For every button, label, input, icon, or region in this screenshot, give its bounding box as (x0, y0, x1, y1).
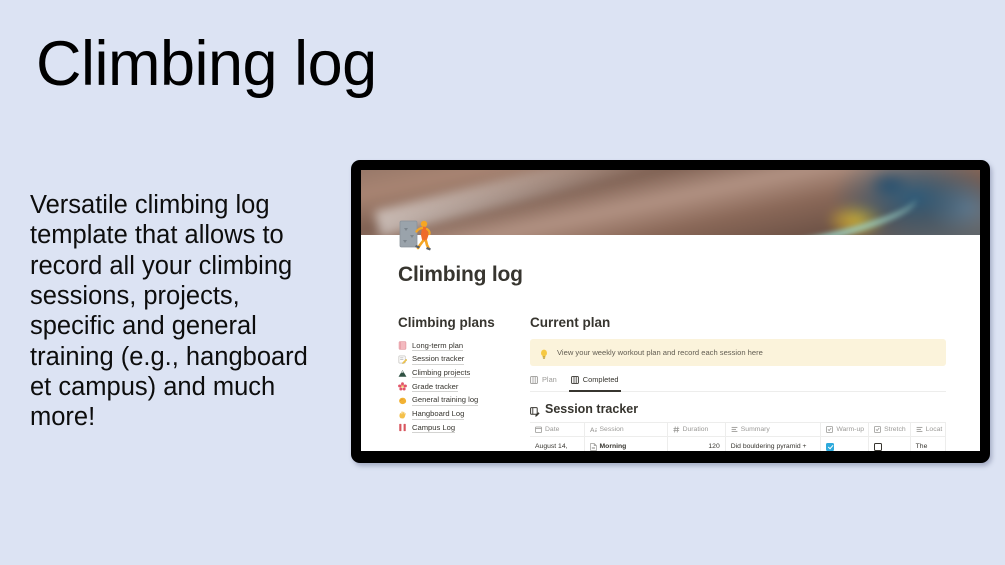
column-header-label: Locat (926, 426, 943, 433)
column-header-date[interactable]: Date (530, 423, 584, 437)
sidebar-item-general-training-log[interactable]: General training log (398, 394, 526, 408)
current-plan-column: Current plan View your weekly workout pl… (526, 315, 946, 451)
callout-block: View your weekly workout plan and record… (530, 339, 946, 366)
text-icon (916, 426, 923, 433)
notion-cover-photo (361, 170, 980, 235)
tab-label: Plan (542, 375, 557, 384)
cell-session-label: Morning Bouldering session (600, 442, 662, 451)
sidebar-item-label: Long-term plan (412, 341, 463, 352)
cell-session[interactable]: Morning Bouldering session (584, 437, 667, 452)
current-plan-heading: Current plan (530, 315, 946, 330)
database-icon (530, 376, 538, 384)
notebook-icon (398, 341, 407, 350)
checkbox-unchecked-icon[interactable] (874, 443, 882, 451)
column-header-stretch[interactable]: Stretch (869, 423, 911, 437)
tab-completed[interactable]: Completed (571, 375, 619, 387)
checkbox-icon (874, 426, 881, 433)
mountain-icon (398, 369, 407, 378)
sidebar-item-grade-tracker[interactable]: Grade tracker (398, 380, 526, 394)
cell-warm-up[interactable] (821, 437, 869, 452)
rock-climber-icon[interactable] (398, 216, 434, 252)
slide-description: Versatile climbing log template that all… (30, 190, 330, 433)
page-title: Climbing log (36, 31, 377, 97)
sidebar-item-label: Grade tracker (412, 382, 458, 393)
sidebar-item-label: Hangboard Log (412, 409, 464, 420)
database-pencil-icon (530, 404, 540, 414)
database-view-tabs: Plan Completed (530, 375, 946, 392)
column-header-label: Duration (683, 426, 709, 433)
slide: Climbing log Versatile climbing log temp… (0, 0, 1005, 565)
notion-page-title: Climbing log (398, 263, 946, 287)
cell-summary[interactable]: Did bouldering pyramid + worked on 2 v5 … (725, 437, 821, 452)
abacus-icon (398, 423, 407, 432)
checkbox-checked-icon[interactable] (826, 443, 834, 451)
sidebar-item-label: Session tracker (412, 354, 464, 365)
cell-date[interactable]: August 14, 2022 (530, 437, 584, 452)
device-mockup: Climbing log Climbing plans Long-term pl… (351, 160, 990, 463)
notion-page: Climbing log Climbing plans Long-term pl… (361, 235, 980, 451)
number-icon (673, 426, 680, 433)
calendar-icon (535, 426, 542, 433)
flexed-biceps-icon (398, 396, 407, 405)
light-bulb-icon (540, 347, 548, 358)
callout-text: View your weekly workout plan and record… (557, 348, 763, 357)
column-header-label: Date (545, 426, 559, 433)
table-row[interactable]: August 14, 2022 Morning Bouldering sessi… (530, 437, 946, 452)
tab-plan[interactable]: Plan (530, 375, 557, 387)
column-header-summary[interactable]: Summary (725, 423, 821, 437)
column-header-label: Warm-up (836, 426, 864, 433)
svg-text:Aa: Aa (590, 426, 597, 433)
sidebar-item-label: General training log (412, 395, 478, 406)
climbing-plans-list: Long-term plan Session tracker (398, 339, 526, 435)
database-title: Session tracker (545, 402, 638, 416)
column-header-label: Summary (741, 426, 770, 433)
column-header-label: Session (600, 426, 624, 433)
sidebar-item-hangboard-log[interactable]: Hangboard Log (398, 407, 526, 421)
memo-pencil-icon (398, 355, 407, 364)
database-icon (571, 376, 579, 384)
sidebar-item-session-tracker[interactable]: Session tracker (398, 353, 526, 367)
sidebar-item-long-term-plan[interactable]: Long-term plan (398, 339, 526, 353)
sidebar-item-label: Climbing projects (412, 368, 470, 379)
session-tracker-table: Date Aa Session (530, 422, 946, 451)
table-header-row: Date Aa Session (530, 423, 946, 437)
cell-duration[interactable]: 120 (667, 437, 725, 452)
column-header-warm-up[interactable]: Warm-up (821, 423, 869, 437)
device-screen: Climbing log Climbing plans Long-term pl… (361, 170, 980, 451)
sidebar-item-climbing-projects[interactable]: Climbing projects (398, 366, 526, 380)
pinching-hand-icon (398, 410, 407, 419)
cell-location[interactable]: The Hub (910, 437, 945, 452)
text-icon (731, 426, 738, 433)
sidebar-item-campus-log[interactable]: Campus Log (398, 421, 526, 435)
tab-label: Completed (583, 375, 619, 384)
checkbox-icon (826, 426, 833, 433)
database-heading: Session tracker (530, 402, 946, 416)
page-columns: Climbing plans Long-term plan (398, 315, 946, 451)
climbing-plans-heading: Climbing plans (398, 315, 526, 330)
blossom-icon (398, 382, 407, 391)
column-header-session[interactable]: Aa Session (584, 423, 667, 437)
cell-stretch[interactable] (869, 437, 911, 452)
climbing-plans-column: Climbing plans Long-term plan (398, 315, 526, 435)
column-header-duration[interactable]: Duration (667, 423, 725, 437)
sidebar-item-label: Campus Log (412, 423, 455, 434)
column-header-label: Stretch (884, 426, 906, 433)
page-icon (590, 443, 597, 451)
title-icon: Aa (590, 426, 597, 433)
column-header-location[interactable]: Locat (910, 423, 945, 437)
